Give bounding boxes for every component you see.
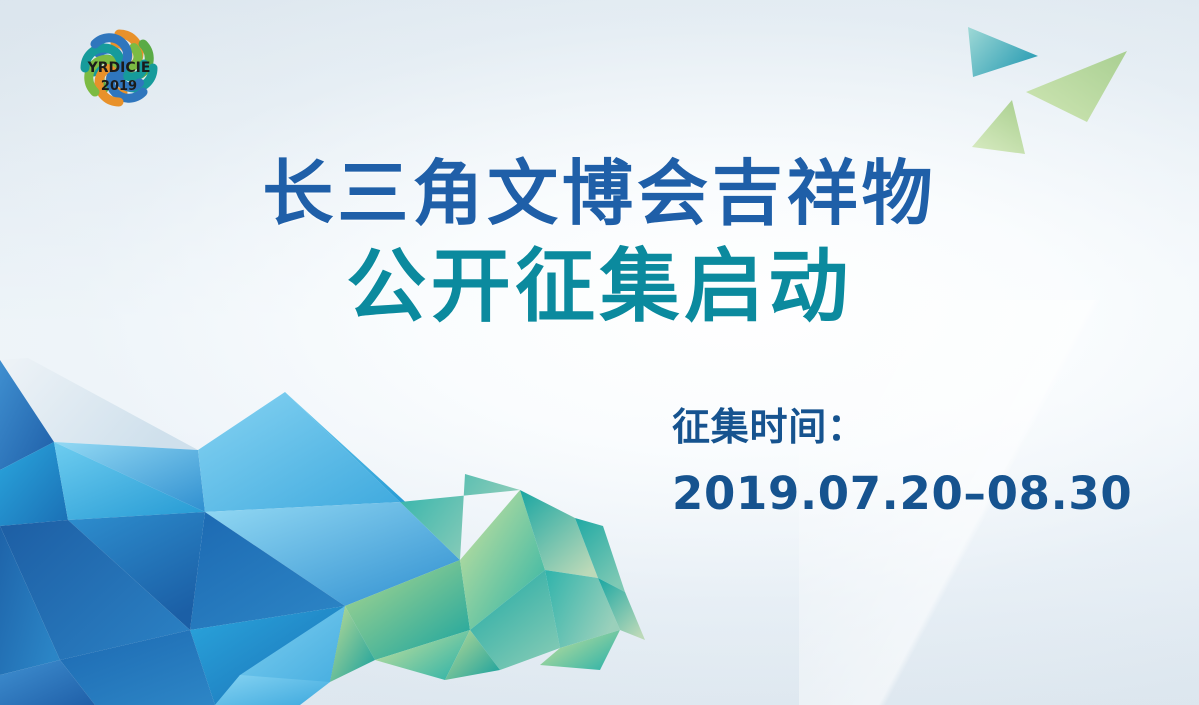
date-block: 征集时间： 2019.07.20–08.30 — [672, 408, 1132, 517]
date-label: 征集时间： — [672, 408, 1132, 448]
triangle-green-large — [1026, 51, 1127, 122]
headline-block: 长三角文博会吉祥物 公开征集启动 — [0, 158, 1199, 327]
triangle-green-small — [972, 100, 1025, 154]
decorative-triangles — [939, 0, 1199, 170]
page-title-line-2: 公开征集启动 — [0, 247, 1199, 327]
promo-banner: YRDICIE 2019 — [0, 0, 1199, 705]
date-value: 2019.07.20–08.30 — [672, 470, 1132, 517]
logo-year: 2019 — [101, 79, 137, 94]
low-poly-origami-bird — [0, 330, 660, 705]
yrdicie-logo: YRDICIE 2019 — [57, 12, 181, 130]
logo-acronym: YRDICIE — [87, 60, 151, 76]
triangle-teal — [968, 27, 1038, 77]
